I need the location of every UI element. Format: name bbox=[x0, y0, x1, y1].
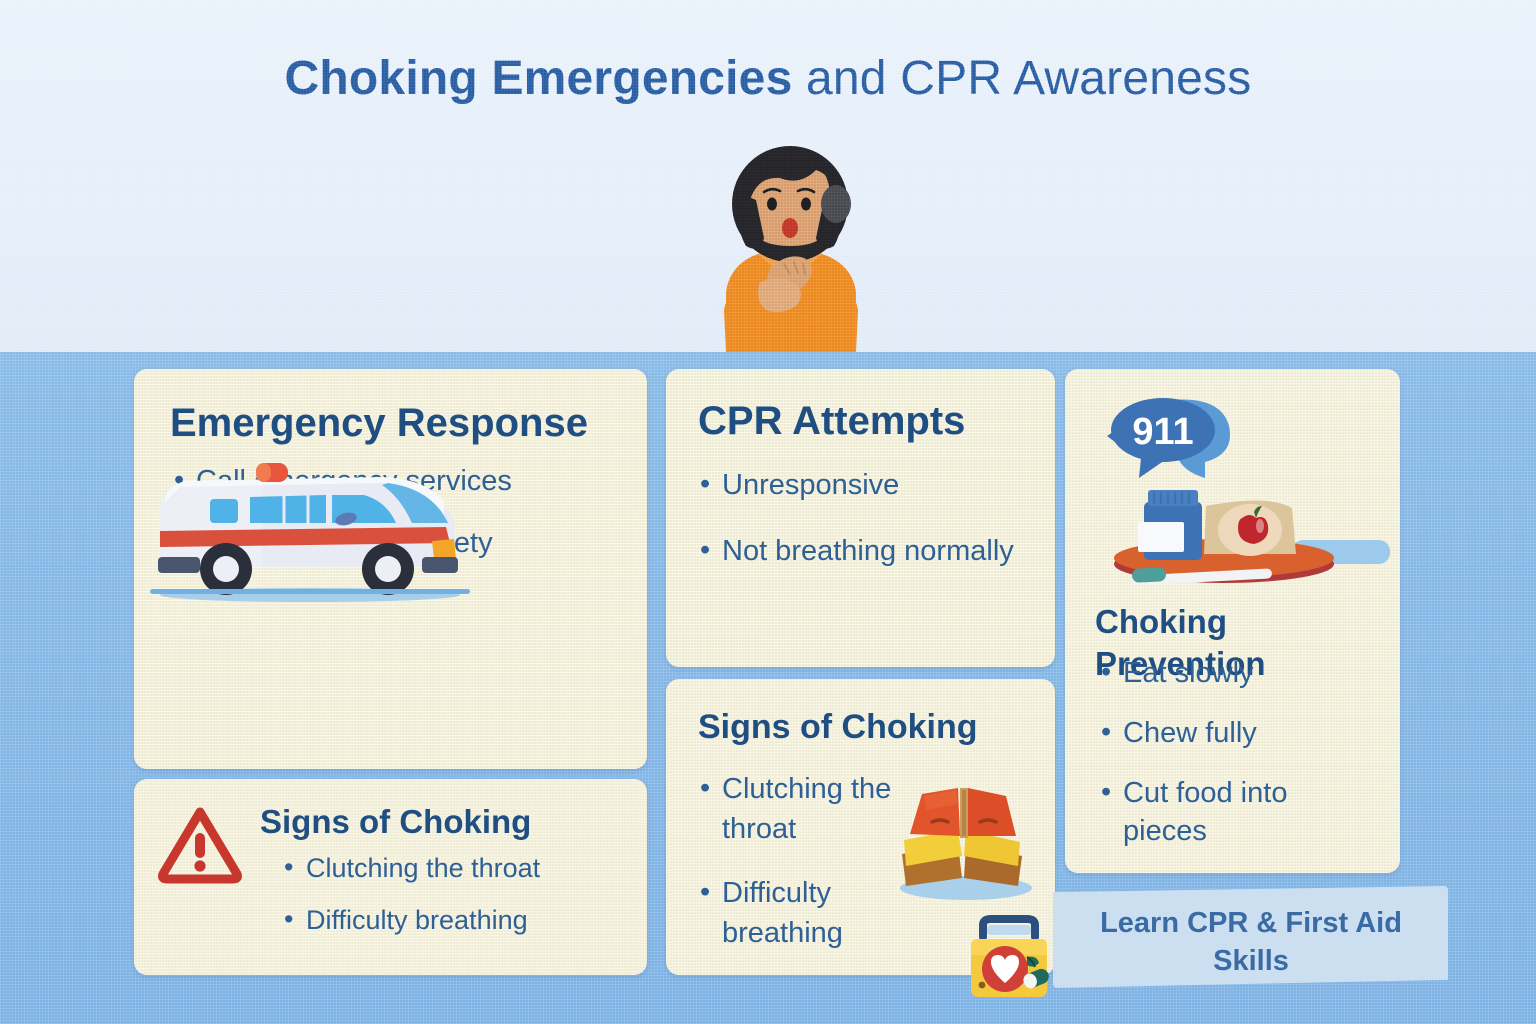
sandwich-illustration bbox=[888, 778, 1038, 903]
ambulance-illustration bbox=[150, 455, 470, 605]
speech-bubble-label: 911 bbox=[1132, 411, 1193, 453]
card-signs-mid-title: Signs of Choking bbox=[698, 705, 1055, 749]
infographic-poster: Choking Emergencies and CPR Awareness bbox=[0, 0, 1536, 1024]
poster-title-light: and CPR Awareness bbox=[792, 52, 1251, 105]
cta-banner[interactable]: Learn CPR & First Aid Skills bbox=[1053, 886, 1448, 988]
card-cpr-title: CPR Attempts bbox=[698, 397, 1055, 445]
list-item: Eat slowly bbox=[1097, 654, 1377, 692]
banner-label: Learn CPR & First Aid Skills bbox=[1071, 904, 1431, 980]
list-item: Difficulty breathing bbox=[696, 873, 911, 953]
card-emergency-title: Emergency Response bbox=[170, 399, 647, 447]
list-item: Difficulty breathing bbox=[280, 901, 540, 939]
card-prevention-bullets: Eat slowly Chew fully Cut food into piec… bbox=[1097, 654, 1377, 850]
poster-title-strong: Choking Emergencies bbox=[285, 52, 793, 105]
list-item: Clutching the throat bbox=[280, 849, 540, 887]
poster-title: Choking Emergencies and CPR Awareness bbox=[0, 47, 1536, 111]
card-signs-of-choking-left: Signs of Choking Clutching the throat Di… bbox=[134, 779, 647, 975]
card-cpr-attempts: CPR Attempts Unresponsive Not breathing … bbox=[666, 369, 1055, 667]
medicine-tray-illustration bbox=[1096, 480, 1396, 592]
card-signs-left-title: Signs of Choking bbox=[260, 801, 540, 843]
warning-triangle-icon bbox=[158, 806, 242, 882]
list-item: Cut food into pieces bbox=[1097, 774, 1377, 850]
list-item: Clutching the throat bbox=[696, 769, 911, 849]
card-signs-left-bullets: Clutching the throat Difficulty breathin… bbox=[280, 849, 540, 939]
list-item: Unresponsive bbox=[696, 463, 1055, 507]
choking-person-illustration bbox=[684, 142, 896, 352]
speech-bubble-911-icon: 911 bbox=[1093, 392, 1263, 484]
list-item: Not breathing normally bbox=[696, 529, 1055, 573]
card-signs-mid-bullets: Clutching the throat Difficulty breathin… bbox=[696, 769, 911, 953]
card-cpr-bullets: Unresponsive Not breathing normally bbox=[696, 463, 1055, 573]
first-aid-kit-icon bbox=[957, 907, 1061, 1013]
list-item: Chew fully bbox=[1097, 714, 1377, 752]
